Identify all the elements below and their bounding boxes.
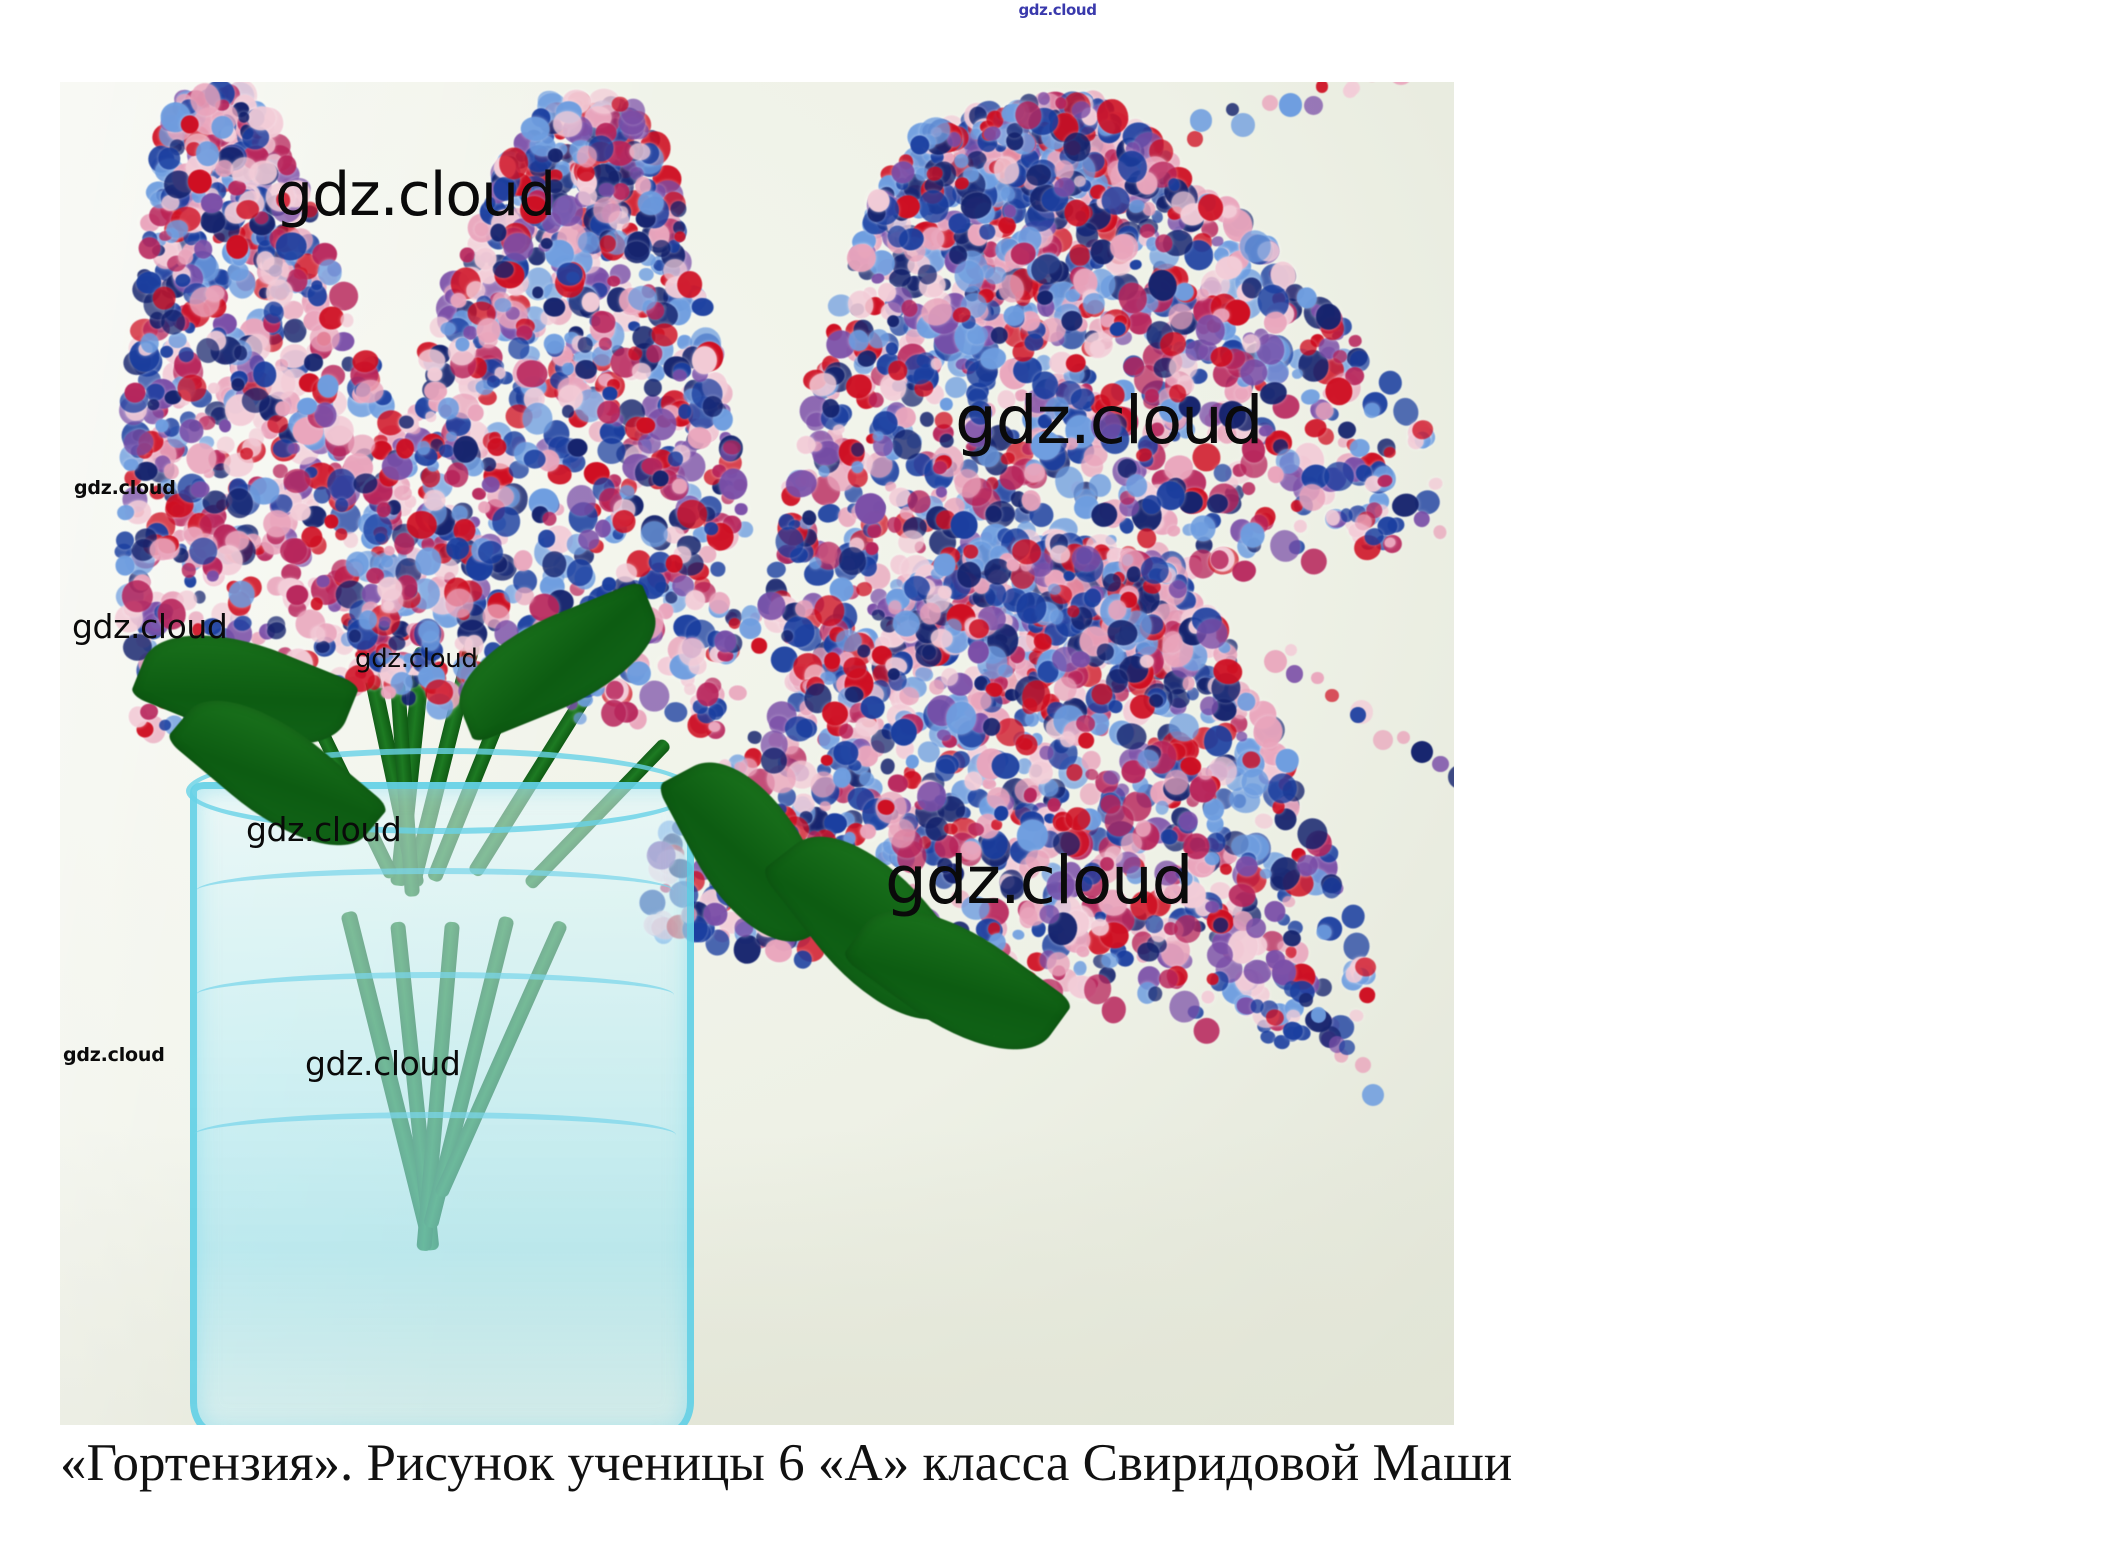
- jar-band: [196, 868, 674, 914]
- paint-dot: [638, 268, 654, 282]
- paint-dot: [996, 388, 1018, 411]
- paint-dot: [1155, 800, 1170, 815]
- paint-dot: [1411, 741, 1433, 763]
- paint-dot: [673, 369, 688, 382]
- paint-dot: [615, 563, 637, 583]
- paint-dot: [316, 575, 330, 588]
- paint-dot: [1264, 650, 1287, 673]
- paint-dot: [1286, 665, 1303, 682]
- paint-dot: [993, 805, 1009, 821]
- paint-dot: [398, 415, 414, 429]
- water-line: [194, 1112, 676, 1158]
- paint-dot: [542, 511, 557, 526]
- jar-band: [196, 972, 674, 1018]
- paint-dot: [1325, 689, 1339, 703]
- paint-dot: [918, 410, 935, 428]
- paint-dot: [381, 555, 394, 568]
- paint-dot: [218, 419, 232, 434]
- paint-dot: [636, 416, 656, 433]
- paint-dot: [1347, 334, 1362, 348]
- paint-dot: [1231, 113, 1255, 137]
- paint-dot: [1355, 1057, 1371, 1073]
- paint-dot: [1187, 131, 1203, 147]
- paint-dot: [1432, 524, 1448, 541]
- paint-dot: [1432, 756, 1448, 772]
- paint-dot: [600, 699, 627, 728]
- paint-dot: [1147, 985, 1164, 1002]
- paint-dot: [1200, 990, 1215, 1005]
- paint-dot: [468, 404, 485, 422]
- paint-dot: [1012, 928, 1025, 940]
- paint-dot: [1219, 863, 1232, 876]
- paint-dot: [1397, 731, 1410, 744]
- paint-dot: [1339, 1040, 1355, 1056]
- paint-dot: [687, 426, 712, 450]
- paint-dot: [567, 438, 588, 458]
- paint-dot: [598, 183, 614, 198]
- paint-dot: [1190, 109, 1213, 132]
- top-watermark: gdz.cloud: [0, 1, 2115, 19]
- paint-dot: [543, 297, 566, 317]
- artwork-photo: gdz.cloudgdz.cloudgdz.cloudgdz.cloudgdz.…: [60, 82, 1454, 1425]
- paint-dot: [1448, 765, 1454, 789]
- paint-dot: [513, 550, 533, 572]
- paint-dot: [879, 758, 895, 776]
- paint-dot: [643, 378, 662, 397]
- paint-dot: [339, 313, 354, 329]
- paint-dot: [1254, 812, 1274, 829]
- paint-dot: [561, 404, 574, 418]
- paint-dot: [612, 510, 636, 534]
- paint-dot: [1191, 1016, 1221, 1046]
- paint-dot: [678, 404, 692, 419]
- paint-dot: [651, 323, 679, 347]
- paint-dot: [417, 440, 431, 455]
- paint-dot: [1262, 95, 1278, 111]
- paint-dot: [388, 635, 407, 652]
- paint-dot: [1339, 903, 1367, 931]
- paint-dot: [1304, 96, 1323, 115]
- paint-dot: [1285, 644, 1297, 656]
- paint-dot: [1166, 524, 1182, 538]
- paint-dot: [1358, 986, 1376, 1004]
- paint-dot: [425, 411, 437, 422]
- paint-dot: [1279, 93, 1302, 116]
- slide-canvas: gdz.cloud gdz.cloudgdz.cloudgdz.cloudgdz…: [0, 0, 2115, 1553]
- paint-dot: [943, 375, 969, 400]
- paint-dot: [486, 375, 500, 387]
- paint-dot: [1299, 993, 1313, 1007]
- paint-dot: [1167, 989, 1202, 1025]
- watermark-text: gdz.cloud: [63, 1044, 165, 1066]
- paint-dot: [1389, 82, 1413, 85]
- paint-dot: [363, 513, 393, 546]
- artwork-caption: «Гортензия». Рисунок ученицы 6 «А» класс…: [60, 1434, 2060, 1492]
- paint-dot: [1362, 1084, 1384, 1106]
- paint-dot: [1292, 519, 1307, 534]
- paint-dot: [577, 529, 599, 550]
- paint-dot: [573, 712, 587, 725]
- paint-dot: [1266, 950, 1285, 969]
- paint-dot: [1427, 476, 1443, 491]
- paint-dot: [1345, 82, 1360, 95]
- paint-dot: [1284, 981, 1300, 997]
- paint-dot: [380, 685, 397, 699]
